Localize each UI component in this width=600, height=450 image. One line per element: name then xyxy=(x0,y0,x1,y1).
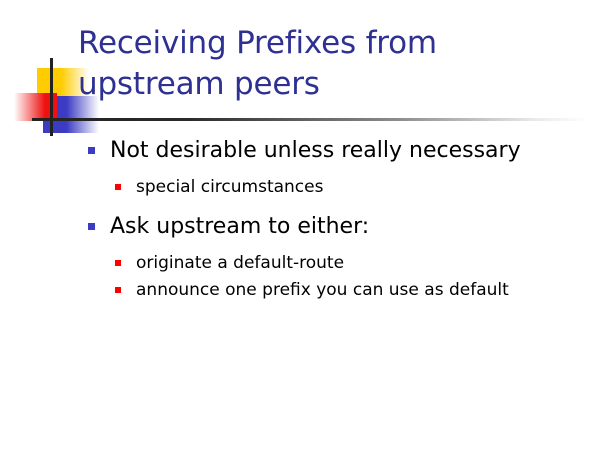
square-bullet-red-icon xyxy=(115,287,121,293)
square-bullet-red-icon xyxy=(115,260,121,266)
square-bullet-blue-icon xyxy=(88,147,95,154)
square-bullet-red-icon xyxy=(115,184,121,190)
bullet-item-level2: originate a default-route xyxy=(0,250,600,276)
bullet-text: Not desirable unless really necessary xyxy=(110,138,521,163)
title-divider xyxy=(32,118,588,121)
bullet-item-level1: Not desirable unless really necessary xyxy=(0,134,600,167)
bullet-text: announce one prefix you can use as defau… xyxy=(136,280,509,300)
presentation-slide: Receiving Prefixes from upstream peers N… xyxy=(0,0,600,450)
bullet-text: special circumstances xyxy=(136,177,323,197)
bullet-item-level1: Ask upstream to either: xyxy=(0,210,600,243)
spacer xyxy=(0,201,600,210)
bullet-text: Ask upstream to either: xyxy=(110,214,369,239)
bullet-item-level2: announce one prefix you can use as defau… xyxy=(0,277,600,303)
slide-title: Receiving Prefixes from upstream peers xyxy=(78,23,578,105)
logo-vertical-line-icon xyxy=(50,58,53,136)
bullet-text: originate a default-route xyxy=(136,253,344,273)
slide-title-line-2: upstream peers xyxy=(78,64,578,105)
bullet-item-level2: special circumstances xyxy=(0,174,600,200)
slide-body: Not desirable unless really necessary sp… xyxy=(0,134,600,304)
slide-title-line-1: Receiving Prefixes from xyxy=(78,23,578,64)
square-bullet-blue-icon xyxy=(88,223,95,230)
